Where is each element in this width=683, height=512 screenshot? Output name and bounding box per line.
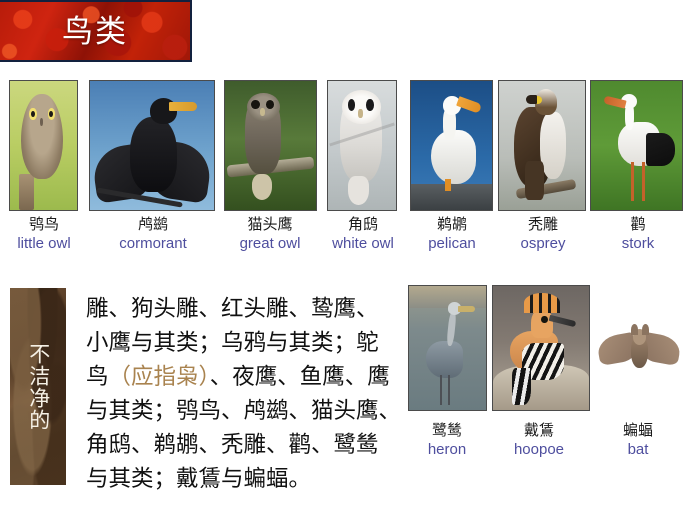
- photo-osprey: [498, 80, 586, 211]
- caption-en: cormorant: [107, 235, 199, 252]
- scripture-text: 小鹰与其类；乌鸦与其类；鸵: [86, 330, 379, 355]
- caption-little-owl: 鸮鸟 little owl: [0, 216, 88, 253]
- caption-cn: 猫头鹰: [224, 216, 316, 233]
- photo-great-owl: [224, 80, 317, 211]
- caption-en: hoopoe: [496, 441, 582, 458]
- caption-en: great owl: [224, 235, 316, 252]
- caption-cn: 蝙蝠: [598, 422, 678, 439]
- scripture-text: 与其类；戴鵀与蝙蝠。: [86, 466, 311, 491]
- caption-cn: 鹈鹕: [413, 216, 491, 233]
- caption-hoopoe: 戴鵀 hoopoe: [496, 422, 582, 459]
- scripture-line: 雕、狗头雕、红头雕、鸷鹰、: [86, 292, 392, 326]
- page-title: 鸟类: [62, 16, 128, 47]
- title-banner: 鸟类: [0, 0, 192, 62]
- caption-en: bat: [598, 441, 678, 458]
- scripture-text: 雕、狗头雕、红头雕、鸷鹰、: [86, 296, 379, 321]
- scripture-line: 角鸱、鹈鹕、秃雕、鹳、鹭鸶: [86, 428, 392, 462]
- scripture-line: 小鹰与其类；乌鸦与其类；鸵: [86, 326, 392, 360]
- caption-heron: 鹭鸶 heron: [406, 422, 488, 459]
- unclean-label-box: 不洁净的: [10, 288, 66, 485]
- photo-bat: [596, 285, 683, 411]
- scripture-line: 与其类；戴鵀与蝙蝠。: [86, 462, 392, 496]
- photo-white-owl: [327, 80, 397, 211]
- scripture-text-block: 雕、狗头雕、红头雕、鸷鹰、小鹰与其类；乌鸦与其类；鸵鸟（应指枭）、夜鹰、鱼鹰、鹰…: [86, 292, 392, 496]
- caption-en: little owl: [0, 235, 88, 252]
- caption-en: pelican: [413, 235, 491, 252]
- caption-pelican: 鹈鹕 pelican: [413, 216, 491, 253]
- photo-hoopoe: [492, 285, 590, 411]
- caption-cn: 鹭鸶: [406, 422, 488, 439]
- caption-osprey: 秃雕 osprey: [503, 216, 583, 253]
- caption-en: white owl: [323, 235, 403, 252]
- scripture-text: 与其类；鸮鸟、鸬鹚、猫头鹰、: [86, 398, 401, 423]
- caption-cormorant: 鸬鹚 cormorant: [107, 216, 199, 253]
- caption-en: osprey: [503, 235, 583, 252]
- caption-cn: 戴鵀: [496, 422, 582, 439]
- caption-en: heron: [406, 441, 488, 458]
- caption-cn: 鸬鹚: [107, 216, 199, 233]
- caption-bat: 蝙蝠 bat: [598, 422, 678, 459]
- caption-white-owl: 角鸱 white owl: [323, 216, 403, 253]
- caption-cn: 角鸱: [323, 216, 403, 233]
- photo-cormorant: [89, 80, 215, 211]
- caption-great-owl: 猫头鹰 great owl: [224, 216, 316, 253]
- scripture-text: 、夜鹰、鱼鹰、鹰: [210, 364, 390, 389]
- caption-cn: 鹳: [600, 216, 676, 233]
- unclean-label-text: 不洁净的: [25, 343, 51, 431]
- scripture-text: 鸟: [86, 364, 109, 389]
- scripture-text: 角鸱、鹈鹕、秃雕、鹳、鹭鸶: [86, 432, 379, 457]
- photo-stork: [590, 80, 683, 211]
- scripture-line: 鸟（应指枭）、夜鹰、鱼鹰、鹰: [86, 360, 392, 394]
- caption-en: stork: [600, 235, 676, 252]
- caption-cn: 鸮鸟: [0, 216, 88, 233]
- scripture-line: 与其类；鸮鸟、鸬鹚、猫头鹰、: [86, 394, 392, 428]
- photo-heron: [408, 285, 487, 411]
- scripture-annotation: （应指枭）: [109, 364, 210, 389]
- photo-little-owl: [9, 80, 78, 211]
- photo-pelican: [410, 80, 493, 211]
- caption-cn: 秃雕: [503, 216, 583, 233]
- caption-stork: 鹳 stork: [600, 216, 676, 253]
